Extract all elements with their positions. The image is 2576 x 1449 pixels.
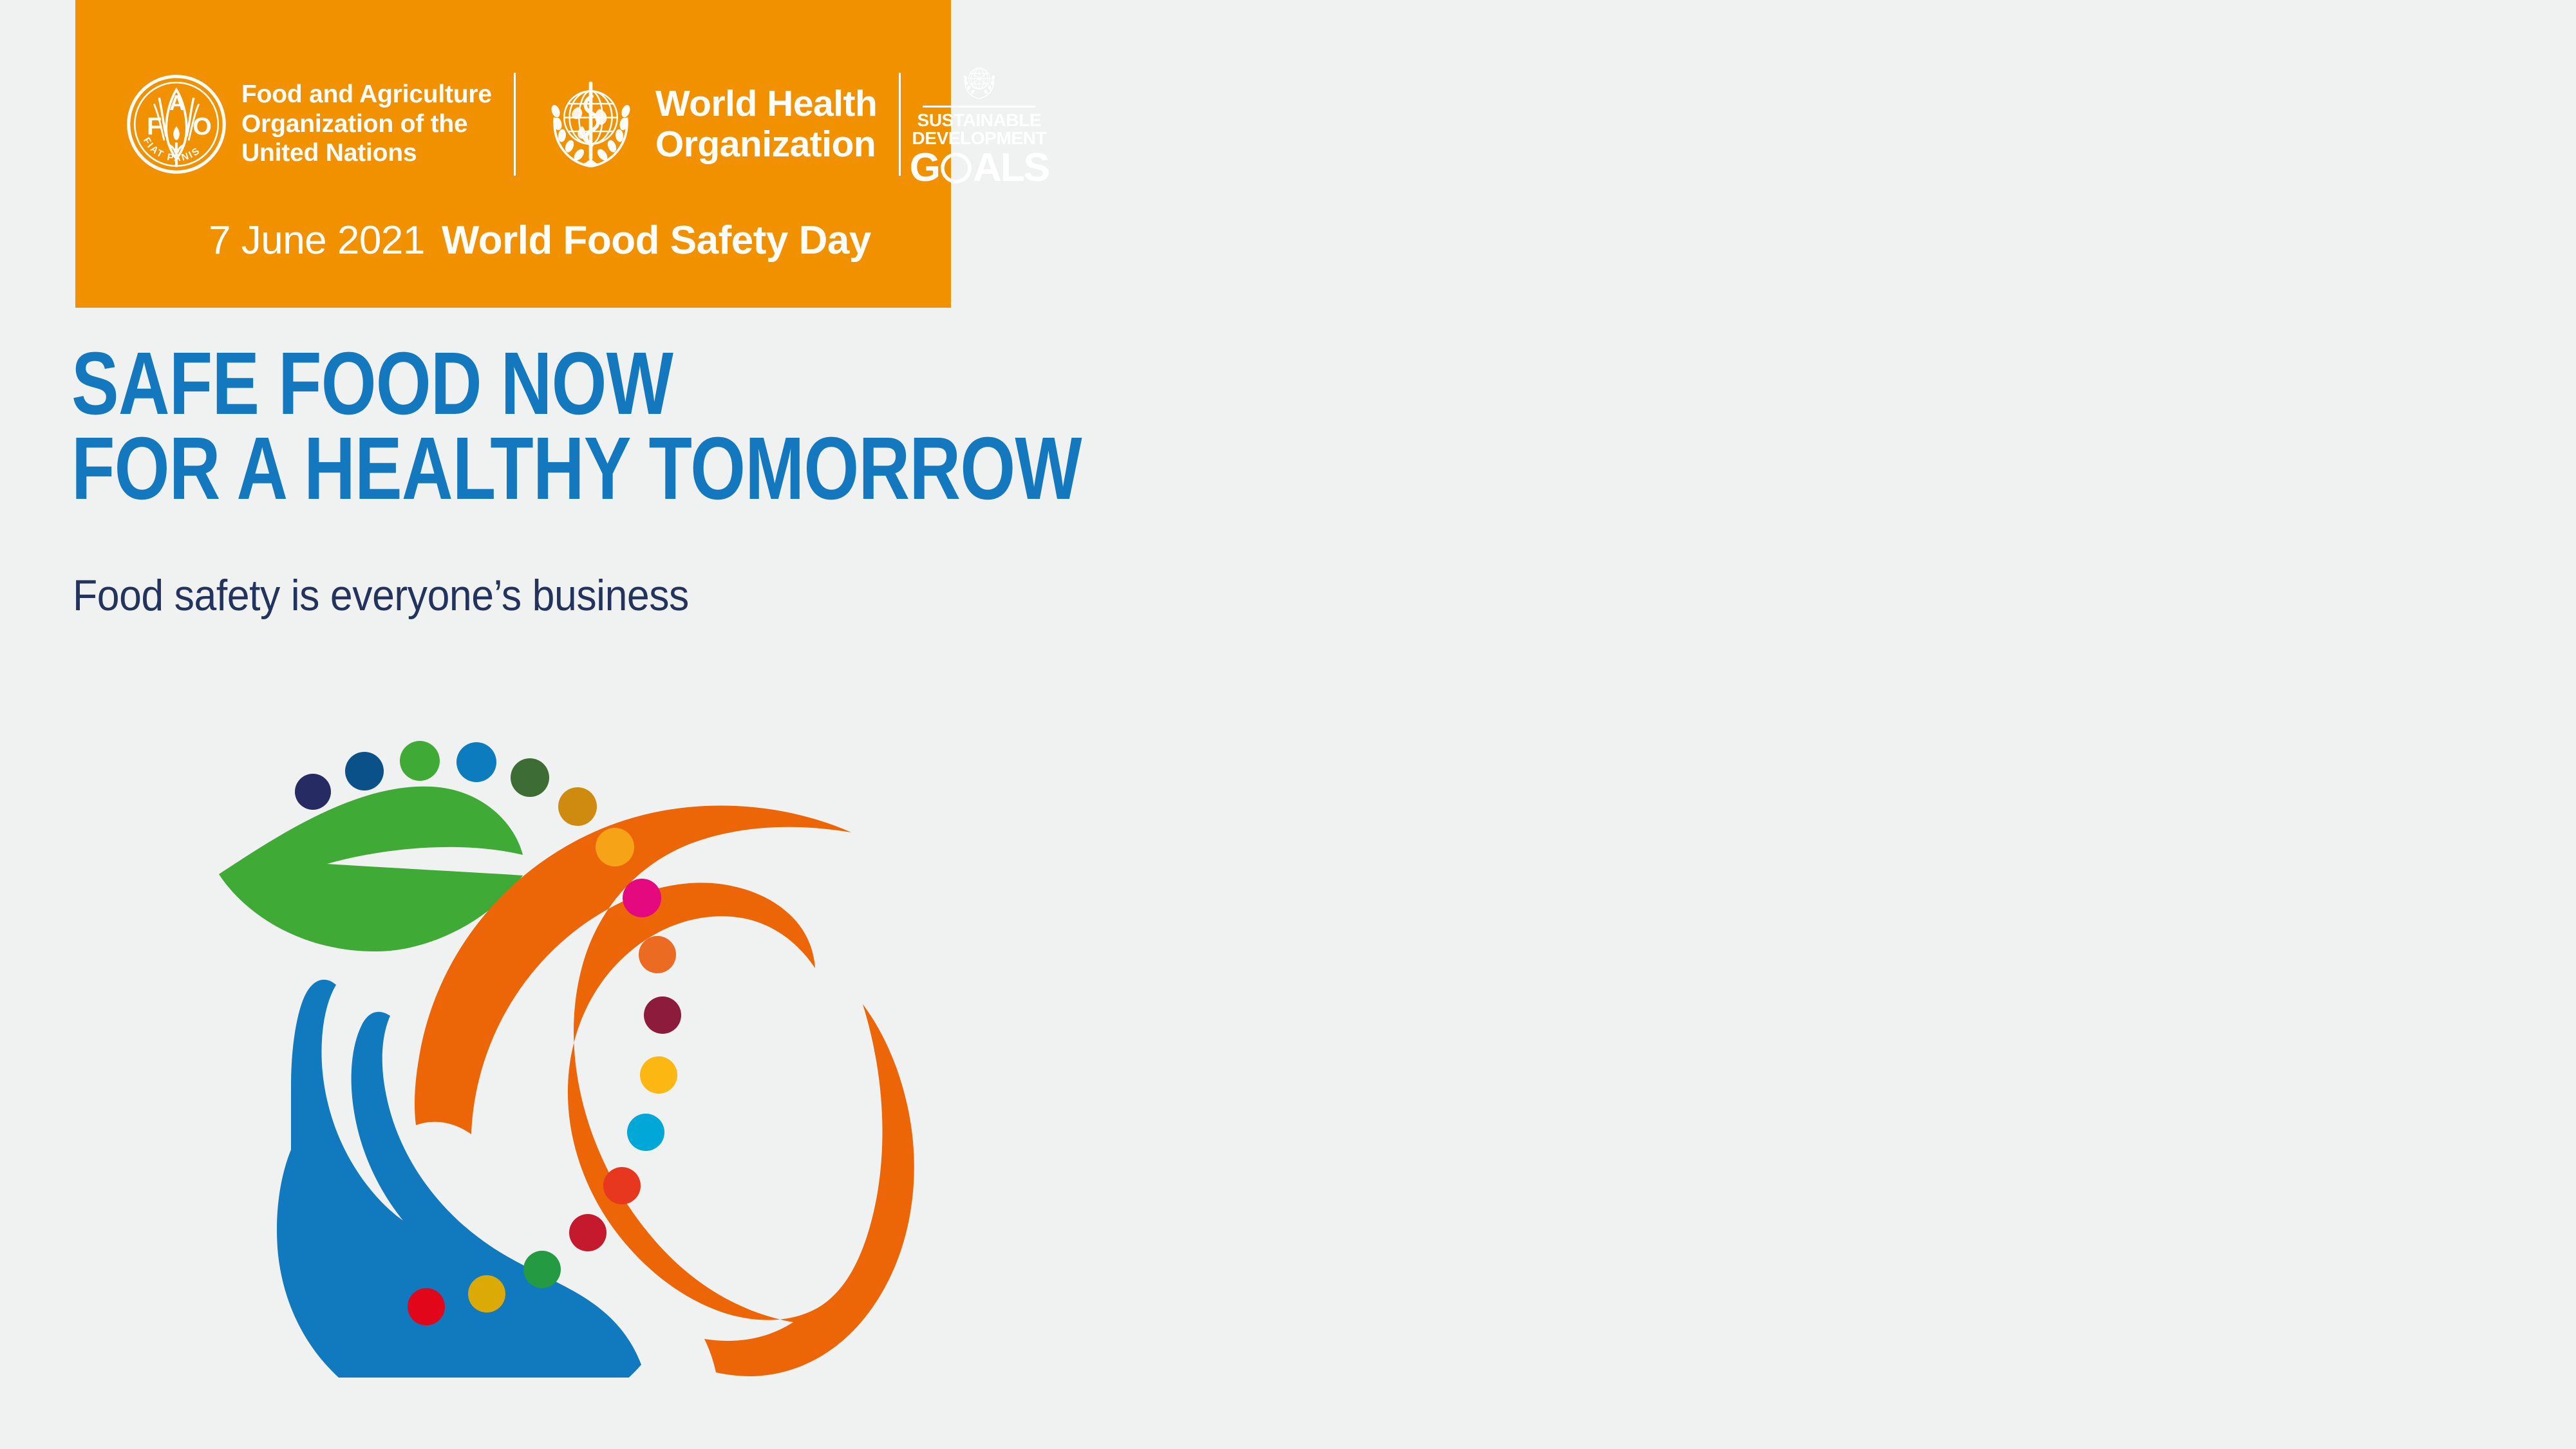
sdg-dot-7	[596, 828, 634, 866]
sdg-dot-12	[627, 1114, 664, 1151]
sdg-logo-block: SUSTAINABLE DEVELOPMENT G	[923, 61, 1035, 187]
sdg-goals-wordmark: G	[910, 149, 1049, 187]
sdg-dot-3	[400, 741, 440, 781]
who-name-line-2: Organization	[655, 124, 877, 165]
sdg-dot-8	[623, 879, 661, 917]
sdg-dot-15	[523, 1251, 561, 1288]
sdg-line-development: DEVELOPMENT	[912, 129, 1047, 147]
banner-date: 7 June 2021	[209, 218, 425, 263]
who-logo-block: World Health Organization	[538, 68, 877, 180]
fao-emblem-icon: F A O FIAT PANIS	[126, 73, 227, 175]
world-food-safety-day-emblem	[193, 727, 966, 1378]
sdg-dot-16	[468, 1275, 505, 1313]
partner-logo-row: F A O FIAT PANIS Food and Agriculture Or…	[126, 68, 1035, 180]
who-name: World Health Organization	[655, 84, 877, 164]
fao-name-line-1: Food and Agriculture	[241, 80, 492, 109]
sdg-color-wheel-icon	[940, 152, 972, 184]
sdg-dot-1	[295, 774, 331, 810]
svg-text:A: A	[169, 91, 185, 115]
campaign-headline: SAFE FOOD NOW FOR A HEALTHY TOMORROW	[71, 341, 1082, 512]
campaign-tagline: Food safety is everyone’s business	[73, 570, 689, 621]
sdg-dot-4	[456, 742, 496, 782]
sdg-dot-10	[644, 996, 681, 1034]
logo-divider-2	[899, 73, 901, 176]
logo-divider-1	[514, 73, 516, 176]
banner-event-name: World Food Safety Day	[442, 218, 871, 263]
who-name-line-1: World Health	[655, 84, 877, 124]
partner-logo-banner: F A O FIAT PANIS Food and Agriculture Or…	[75, 0, 951, 308]
svg-text:O: O	[193, 113, 212, 140]
svg-text:F: F	[147, 113, 162, 140]
sdg-dot-17	[408, 1288, 445, 1325]
headline-line-1: SAFE FOOD NOW	[71, 341, 1082, 426]
fao-name-line-3: United Nations	[241, 138, 492, 168]
sdg-dot-13	[603, 1167, 641, 1204]
fao-name-line-2: Organization of the	[241, 109, 492, 139]
headline-line-2: FOR A HEALTHY TOMORROW	[71, 426, 1082, 511]
sdg-dot-2	[345, 752, 384, 790]
sdg-dot-11	[640, 1056, 677, 1094]
banner-date-line: 7 June 2021 World Food Safety Day	[209, 218, 871, 263]
sdg-dot-6	[558, 787, 597, 826]
sdg-goals-suffix: ALS	[973, 149, 1049, 187]
un-emblem-icon	[955, 61, 1003, 103]
fao-name: Food and Agriculture Organization of the…	[241, 80, 492, 168]
sdg-dot-9	[639, 936, 676, 973]
sdg-line-sustainable: SUSTAINABLE	[917, 111, 1042, 129]
sdg-dot-14	[569, 1214, 606, 1251]
sdg-dot-5	[511, 758, 549, 797]
who-emblem-icon	[538, 71, 644, 177]
sdg-goals-prefix: G	[910, 149, 939, 187]
sdg-divider-rule	[923, 106, 1035, 108]
fao-logo-block: F A O FIAT PANIS Food and Agriculture Or…	[126, 68, 492, 180]
